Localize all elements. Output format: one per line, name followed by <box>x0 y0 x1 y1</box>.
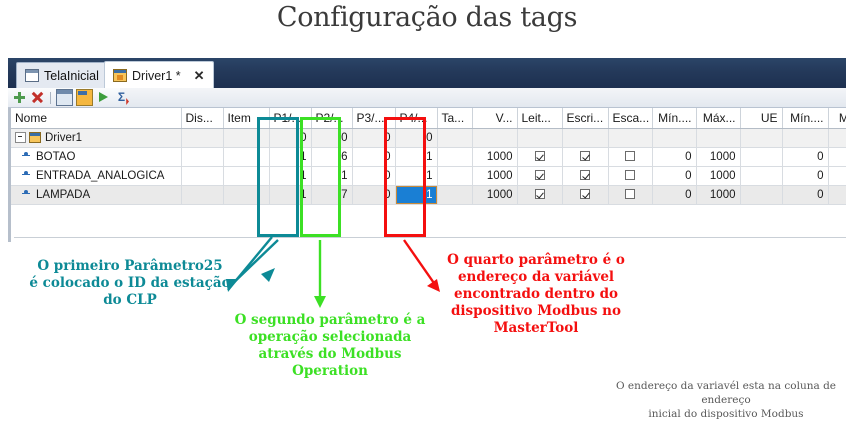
row-label: BOTAO <box>36 151 75 163</box>
delete-icon[interactable] <box>30 90 45 105</box>
column-header-max1[interactable]: Máx... <box>696 108 740 128</box>
cell-nome[interactable]: Driver1 <box>11 128 181 147</box>
cell-nome[interactable]: LAMPADA <box>11 185 181 204</box>
table-row[interactable]: BOTAO160110000100001000 <box>11 147 846 166</box>
close-icon[interactable]: ✕ <box>194 69 205 82</box>
column-header-esca[interactable]: Esca... <box>608 108 652 128</box>
cell-ue[interactable] <box>740 128 782 147</box>
cell-max1[interactable]: 1000 <box>696 185 740 204</box>
checkbox-leit[interactable] <box>535 170 545 180</box>
folder-icon[interactable] <box>76 89 93 106</box>
table-row[interactable]: ENTRADA_ANALOGICA110110000100001000 <box>11 166 846 185</box>
row-label: LAMPADA <box>36 189 90 201</box>
cell-max2[interactable]: 1000 <box>828 166 846 185</box>
cell-nome[interactable]: ENTRADA_ANALOGICA <box>11 166 181 185</box>
checkbox-esca[interactable] <box>625 170 635 180</box>
sigma-icon[interactable]: Σ <box>114 90 129 105</box>
table-row[interactable]: LAMPADA170110000100001000 <box>11 185 846 204</box>
caption-line: O endereço da variavél esta na coluna de… <box>598 379 854 407</box>
tag-node-icon <box>22 152 31 161</box>
annotation-line: endereço da variável <box>424 269 648 286</box>
toolbar-strip: Σ <box>8 88 120 107</box>
tags-grid[interactable]: NomeDis...ItemP1/...P2/...P3/...P4/...Ta… <box>8 108 846 242</box>
cell-min2[interactable]: 0 <box>782 185 828 204</box>
page-title: Configuração das tags <box>0 2 854 33</box>
checkbox-leit[interactable] <box>535 151 545 161</box>
cell-v[interactable] <box>472 128 517 147</box>
cell-min2[interactable]: 0 <box>782 147 828 166</box>
driver-icon <box>113 69 127 82</box>
annotation-line: MasterTool <box>424 320 648 337</box>
cell-esca[interactable] <box>608 147 652 166</box>
tag-node-icon <box>22 190 31 199</box>
cell-esca[interactable] <box>608 128 652 147</box>
cell-leit[interactable] <box>517 185 562 204</box>
caption-line: inicial do dispositivo Modbus <box>598 407 854 421</box>
annotation-line: dispositivo Modbus no <box>424 303 648 320</box>
cell-escri[interactable] <box>562 166 608 185</box>
cell-dis[interactable] <box>181 128 223 147</box>
cell-nome[interactable]: BOTAO <box>11 147 181 166</box>
cell-ue[interactable] <box>740 147 782 166</box>
tab-label: Driver1 * <box>132 69 181 83</box>
annotation-line: através do Modbus <box>222 346 438 363</box>
highlight-box-p4 <box>384 117 426 237</box>
cell-escri[interactable] <box>562 185 608 204</box>
checkbox-escri[interactable] <box>580 170 590 180</box>
annotation-teal: O primeiro Parâmetro25 é colocado o ID d… <box>12 258 248 309</box>
tab-strip: TelaInicial Driver1 * ✕ <box>8 58 846 88</box>
annotation-line: O quarto parâmetro é o <box>424 252 648 269</box>
column-header-nome[interactable]: Nome <box>11 108 181 128</box>
tab-driver1[interactable]: Driver1 * ✕ <box>104 61 214 89</box>
cell-ta[interactable] <box>437 147 472 166</box>
tags-table: NomeDis...ItemP1/...P2/...P3/...P4/...Ta… <box>11 108 846 205</box>
cell-v[interactable]: 1000 <box>472 185 517 204</box>
application-window: TelaInicial Driver1 * ✕ Σ NomeDis...Item… <box>8 58 846 242</box>
cell-dis[interactable] <box>181 185 223 204</box>
checkbox-esca[interactable] <box>625 189 635 199</box>
cell-ta[interactable] <box>437 128 472 147</box>
cell-min2[interactable] <box>782 128 828 147</box>
cell-ue[interactable] <box>740 185 782 204</box>
cell-min1[interactable]: 0 <box>652 147 696 166</box>
cell-v[interactable]: 1000 <box>472 147 517 166</box>
annotation-line: O segundo parâmetro é a <box>222 312 438 329</box>
cell-esca[interactable] <box>608 166 652 185</box>
add-icon[interactable] <box>12 90 27 105</box>
annotation-line: Operation <box>222 363 438 380</box>
column-header-ue[interactable]: UE <box>740 108 782 128</box>
column-header-min2[interactable]: Mín.... <box>782 108 828 128</box>
highlight-box-p2 <box>300 117 341 237</box>
driver-node-icon <box>29 132 41 143</box>
cell-dis[interactable] <box>181 147 223 166</box>
cell-escri[interactable] <box>562 128 608 147</box>
cell-min1[interactable]: 0 <box>652 166 696 185</box>
cell-min1[interactable] <box>652 128 696 147</box>
cell-ta[interactable] <box>437 185 472 204</box>
column-header-leit[interactable]: Leit... <box>517 108 562 128</box>
annotation-line: encontrado dentro do <box>424 286 648 303</box>
toolbar: Σ <box>8 88 846 108</box>
cell-leit[interactable] <box>517 128 562 147</box>
green-arrow-head <box>314 296 326 308</box>
column-header-escri[interactable]: Escri... <box>562 108 608 128</box>
annotation-line: do CLP <box>12 292 248 309</box>
column-header-dis[interactable]: Dis... <box>181 108 223 128</box>
cell-max2[interactable] <box>828 128 846 147</box>
window-icon[interactable] <box>56 89 73 106</box>
run-icon[interactable] <box>96 90 111 105</box>
table-row[interactable]: Driver10000 <box>11 128 846 147</box>
checkbox-leit[interactable] <box>535 189 545 199</box>
column-header-v[interactable]: V... <box>472 108 517 128</box>
cell-leit[interactable] <box>517 147 562 166</box>
tag-node-icon <box>22 171 31 180</box>
toolbar-separator <box>50 92 51 104</box>
cell-ta[interactable] <box>437 166 472 185</box>
cell-leit[interactable] <box>517 166 562 185</box>
cell-max2[interactable]: 1000 <box>828 147 846 166</box>
row-label: ENTRADA_ANALOGICA <box>36 170 164 182</box>
cell-max1[interactable]: 1000 <box>696 166 740 185</box>
row-label: Driver1 <box>45 132 82 144</box>
cell-esca[interactable] <box>608 185 652 204</box>
checkbox-escri[interactable] <box>580 151 590 161</box>
annotation-line: é colocado o ID da estação <box>12 275 248 292</box>
checkbox-escri[interactable] <box>580 189 590 199</box>
cell-ue[interactable] <box>740 166 782 185</box>
tree-collapse-icon[interactable] <box>15 132 26 143</box>
cell-max1[interactable] <box>696 128 740 147</box>
document-icon <box>25 69 39 82</box>
tab-label: TelaInicial <box>44 69 99 83</box>
cell-max1[interactable]: 1000 <box>696 147 740 166</box>
annotation-line: operação selecionada <box>222 329 438 346</box>
teal-arrow-head <box>261 268 275 282</box>
cell-dis[interactable] <box>181 166 223 185</box>
cell-v[interactable]: 1000 <box>472 166 517 185</box>
cell-min1[interactable]: 0 <box>652 185 696 204</box>
annotation-line: O primeiro Parâmetro25 <box>12 258 248 275</box>
cell-min2[interactable]: 0 <box>782 166 828 185</box>
footnote-caption: O endereço da variavél esta na coluna de… <box>598 379 854 422</box>
cell-max2[interactable]: 1000 <box>828 185 846 204</box>
checkbox-esca[interactable] <box>625 151 635 161</box>
annotation-green: O segundo parâmetro é a operação selecio… <box>222 312 438 380</box>
grid-empty-area <box>14 237 846 242</box>
cell-escri[interactable] <box>562 147 608 166</box>
annotation-red: O quarto parâmetro é o endereço da variá… <box>424 252 648 337</box>
column-header-min1[interactable]: Mín.... <box>652 108 696 128</box>
highlight-box-p1 <box>257 117 299 237</box>
table-header-row: NomeDis...ItemP1/...P2/...P3/...P4/...Ta… <box>11 108 846 128</box>
table-body: Driver10000BOTAO160110000100001000ENTRAD… <box>11 128 846 204</box>
tab-telainicial[interactable]: TelaInicial <box>16 62 108 88</box>
column-header-ta[interactable]: Ta... <box>437 108 472 128</box>
column-header-max2[interactable]: Máx... <box>828 108 846 128</box>
